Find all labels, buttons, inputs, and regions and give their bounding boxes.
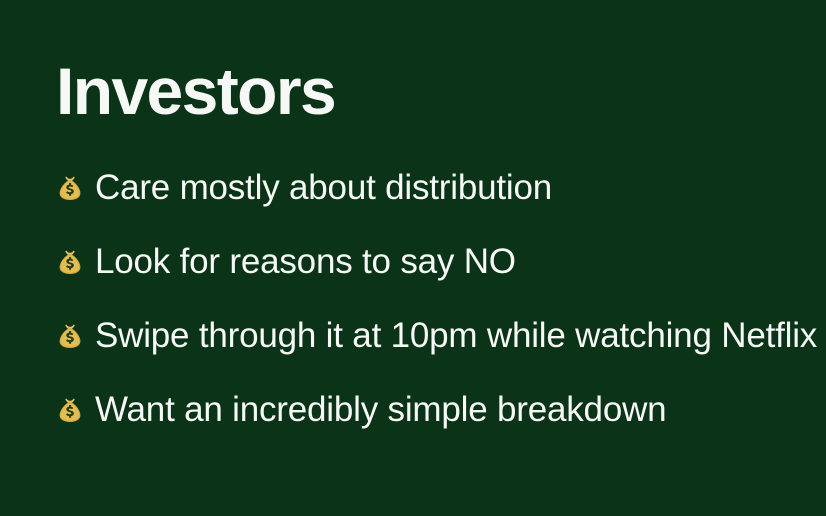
bullet-list: Care mostly about distribution Look for …	[56, 162, 806, 436]
list-item-label: Look for reasons to say NO	[95, 243, 516, 282]
list-item: Swipe through it at 10pm while watching …	[56, 310, 806, 362]
money-bag-icon	[56, 248, 84, 276]
list-item-label: Want an incredibly simple breakdown	[95, 391, 666, 430]
list-item: Look for reasons to say NO	[56, 236, 806, 288]
list-item: Want an incredibly simple breakdown	[56, 384, 806, 436]
slide-canvas: Investors Care mostly about distribution	[0, 0, 826, 516]
list-item-label: Care mostly about distribution	[95, 169, 552, 208]
money-bag-icon	[56, 396, 84, 424]
page-title: Investors	[56, 58, 335, 124]
list-item: Care mostly about distribution	[56, 162, 806, 214]
money-bag-icon	[56, 174, 84, 202]
list-item-label: Swipe through it at 10pm while watching …	[95, 317, 817, 356]
money-bag-icon	[56, 322, 84, 350]
